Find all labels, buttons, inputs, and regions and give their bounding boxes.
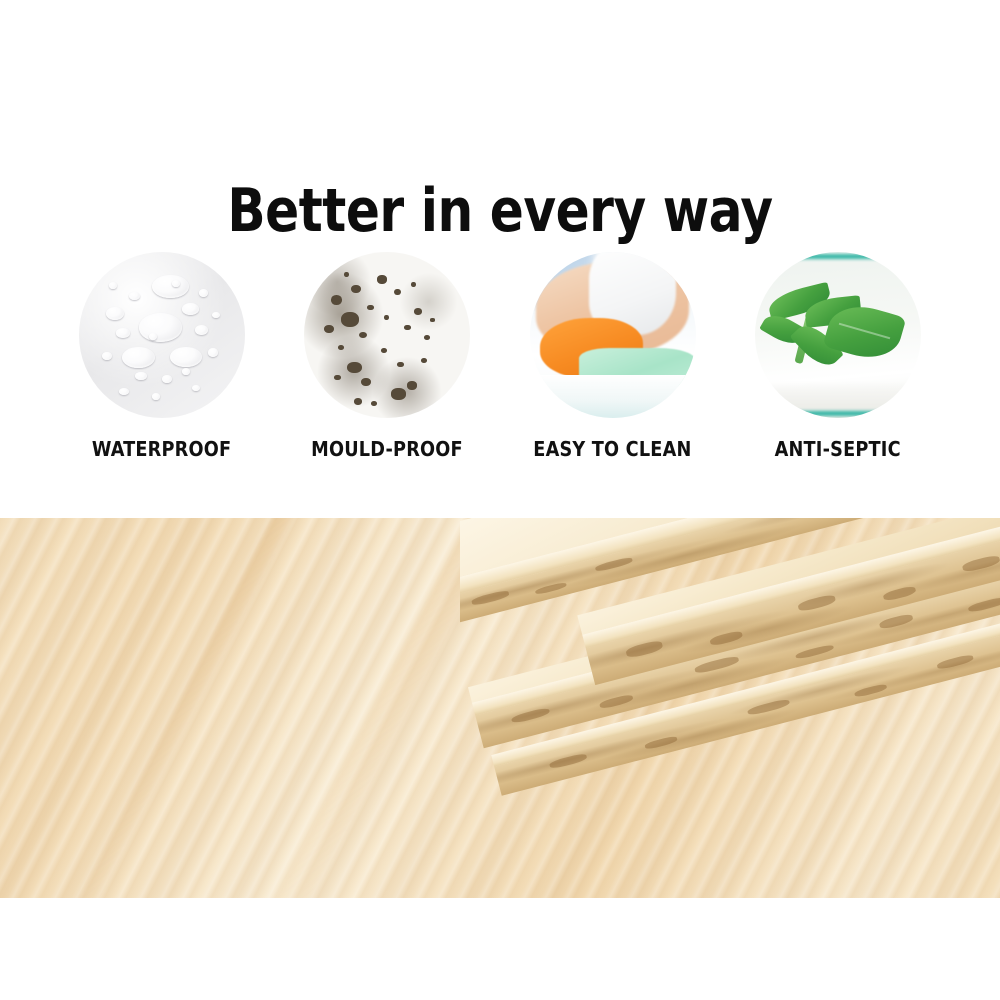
quality-section: Quality that matters What’s good about M…	[0, 518, 1000, 898]
feature-label: ANTI-SEPTIC	[775, 437, 901, 461]
product-infographic: Better in every way	[0, 0, 1000, 1000]
feature-mould-proof: MOULD-PROOF	[287, 252, 487, 461]
feature-anti-septic: ANTI-SEPTIC	[738, 252, 938, 461]
feature-label: MOULD-PROOF	[311, 437, 463, 461]
features-heading: Better in every way	[35, 179, 965, 243]
features-row: WATERPROOF	[62, 252, 938, 472]
features-section: Better in every way	[0, 0, 1000, 518]
green-leaves-icon	[755, 252, 921, 418]
feature-label: WATERPROOF	[92, 437, 231, 461]
water-droplets-icon	[79, 252, 245, 418]
feature-easy-to-clean: EASY TO CLEAN	[513, 252, 713, 461]
bottom-white-band	[0, 898, 1000, 1000]
cleaning-glove-icon	[530, 252, 696, 418]
mould-spots-icon	[304, 252, 470, 418]
feature-waterproof: WATERPROOF	[62, 252, 262, 461]
feature-label: EASY TO CLEAN	[534, 437, 692, 461]
mdf-board-stack-image	[460, 518, 1000, 898]
